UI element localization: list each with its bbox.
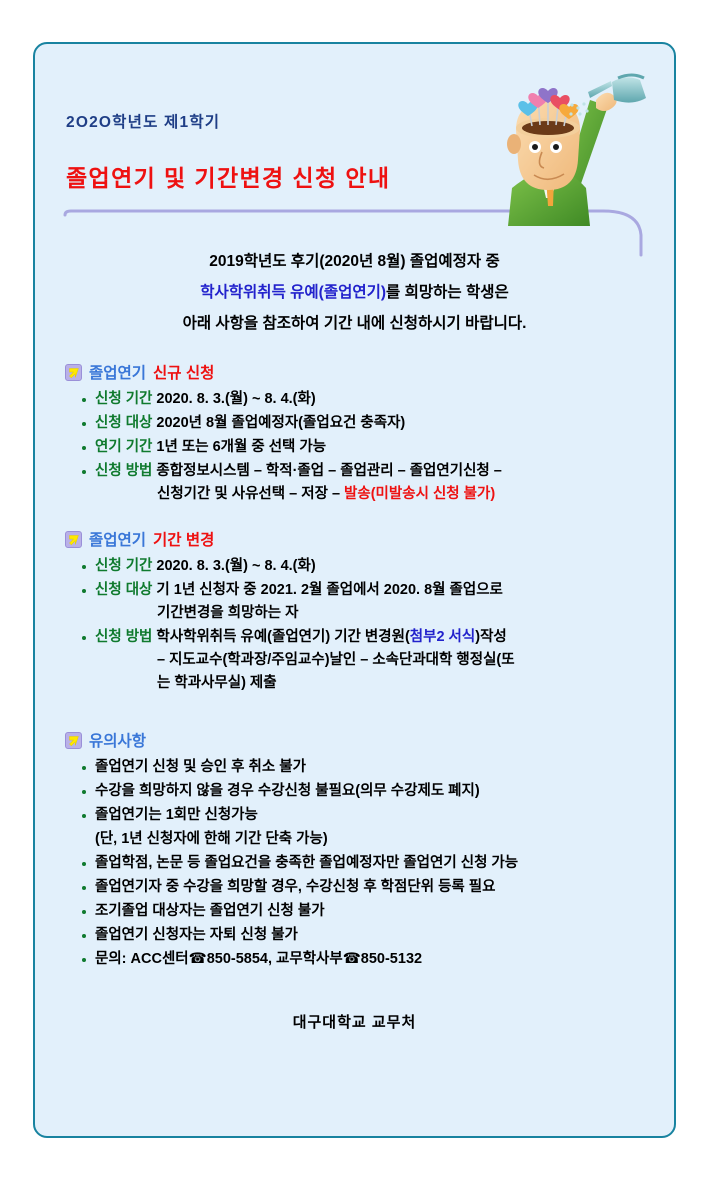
section-heading-main: 졸업연기 <box>89 528 146 550</box>
intro-line-2-rest: 를 희망하는 학생은 <box>386 284 509 301</box>
list-item: 신청 대상 기 1년 신청자 중 2021. 2월 졸업에서 2020. 8월 … <box>79 579 674 625</box>
list-item: 조기졸업 대상자는 졸업연기 신청 불가 <box>79 900 674 923</box>
list-item: 신청 기간 2020. 8. 3.(월) ~ 8. 4.(화) <box>79 555 674 578</box>
section-period-change: 졸업연기 기간 변경 신청 기간 2020. 8. 3.(월) ~ 8. 4.(… <box>35 528 674 695</box>
item-value-continued: 신청기간 및 사유선택 – 저장 – 발송(미발송시 신청 불가) <box>95 483 674 506</box>
arrow-down-right-icon <box>65 732 82 749</box>
item-label: 연기 기간 <box>95 439 152 455</box>
semester-label: 2O2O학년도 제1학기 <box>66 110 220 132</box>
list-item: 신청 대상 2020년 8월 졸업예정자(졸업요건 충족자) <box>79 412 674 435</box>
item-value: 기 1년 신청자 중 2021. 2월 졸업에서 2020. 8월 졸업으로 <box>156 582 502 598</box>
item-value-continued: 기간변경을 희망하는 자 <box>95 602 674 625</box>
section-new-application: 졸업연기 신규 신청 신청 기간 2020. 8. 3.(월) ~ 8. 4.(… <box>35 361 674 506</box>
item-value-pre: 학사학위취득 유예(졸업연기) 기간 변경원( <box>156 629 409 645</box>
intro-highlight: 학사학위취득 유예(졸업연기) <box>200 284 386 301</box>
section-notices: 유의사항 졸업연기 신청 및 승인 후 취소 불가 수강을 희망하지 않을 경우… <box>35 729 674 971</box>
section-item-list: 신청 기간 2020. 8. 3.(월) ~ 8. 4.(화) 신청 대상 기 … <box>65 555 674 695</box>
arrow-down-right-icon <box>65 364 82 381</box>
item-value-warning: 발송(미발송시 신청 불가) <box>344 486 495 502</box>
list-item: 졸업학점, 논문 등 졸업요건을 충족한 졸업예정자만 졸업연기 신청 가능 <box>79 852 674 875</box>
item-value: 2020. 8. 3.(월) ~ 8. 4.(화) <box>156 558 315 574</box>
arrow-down-right-icon <box>65 531 82 548</box>
contact-item: 문의: ACC센터☎850-5854, 교무학사부☎850-5132 <box>79 948 674 971</box>
section-heading-sub: 기간 변경 <box>153 528 214 550</box>
item-value: 2020. 8. 3.(월) ~ 8. 4.(화) <box>156 391 315 407</box>
issuing-organization: 대구대학교 교무처 <box>35 1011 674 1032</box>
list-item: 수강을 희망하지 않을 경우 수강신청 불필요(의무 수강제도 폐지) <box>79 780 674 803</box>
item-label: 신청 대상 <box>95 582 152 598</box>
item-value-continued-2: 는 학과사무실) 제출 <box>95 672 674 695</box>
item-value-continued-text: 신청기간 및 사유선택 – 저장 – <box>157 486 344 502</box>
page-title: 졸업연기 및 기간변경 신청 안내 <box>66 159 390 193</box>
item-label: 신청 방법 <box>95 463 152 479</box>
item-value-continued: – 지도교수(학과장/주임교수)날인 – 소속단과대학 행정실(또 <box>95 649 674 672</box>
announcement-poster: 2O2O학년도 제1학기 졸업연기 및 기간변경 신청 안내 <box>33 42 676 1138</box>
notice-list: 졸업연기 신청 및 승인 후 취소 불가 수강을 희망하지 않을 경우 수강신청… <box>65 756 674 971</box>
item-label: 신청 대상 <box>95 415 152 431</box>
section-heading: 유의사항 <box>65 729 674 751</box>
section-heading-main: 졸업연기 <box>89 361 146 383</box>
section-heading: 졸업연기 신규 신청 <box>65 361 674 383</box>
section-heading-sub: 신규 신청 <box>153 361 214 383</box>
list-item: 졸업연기 신청자는 자퇴 신청 불가 <box>79 924 674 947</box>
item-label: 신청 기간 <box>95 391 152 407</box>
list-item: 신청 기간 2020. 8. 3.(월) ~ 8. 4.(화) <box>79 388 674 411</box>
item-label: 신청 기간 <box>95 558 152 574</box>
list-item: 졸업연기자 중 수강을 희망할 경우, 수강신청 후 학점단위 등록 필요 <box>79 876 674 899</box>
list-item: 신청 방법 종합정보시스템 – 학적·졸업 – 졸업관리 – 졸업연기신청 – … <box>79 460 674 506</box>
poster-header: 2O2O학년도 제1학기 졸업연기 및 기간변경 신청 안내 <box>35 44 674 222</box>
list-item-note: (단, 1년 신청자에 한해 기간 단축 가능) <box>79 828 674 851</box>
man-watering-hearts-in-head-illustration <box>472 48 662 228</box>
list-item: 졸업연기는 1회만 신청가능 <box>79 804 674 827</box>
list-item: 연기 기간 1년 또는 6개월 중 선택 가능 <box>79 436 674 459</box>
item-value-attachment: 첨부2 서식 <box>410 629 475 645</box>
intro-line-1: 2019학년도 후기(2020년 8월) 졸업예정자 중 <box>35 246 674 277</box>
item-value-post: )작성 <box>475 629 507 645</box>
item-label: 신청 방법 <box>95 629 152 645</box>
intro-block: 2019학년도 후기(2020년 8월) 졸업예정자 중 학사학위취득 유예(졸… <box>35 246 674 339</box>
list-item: 신청 방법 학사학위취득 유예(졸업연기) 기간 변경원(첨부2 서식)작성 –… <box>79 626 674 695</box>
item-value: 종합정보시스템 – 학적·졸업 – 졸업관리 – 졸업연기신청 – <box>156 463 501 479</box>
list-item: 졸업연기 신청 및 승인 후 취소 불가 <box>79 756 674 779</box>
intro-line-3: 아래 사항을 참조하여 기간 내에 신청하시기 바랍니다. <box>35 308 674 339</box>
section-heading-main: 유의사항 <box>89 729 146 751</box>
item-value: 2020년 8월 졸업예정자(졸업요건 충족자) <box>156 415 405 431</box>
item-value: 1년 또는 6개월 중 선택 가능 <box>156 439 326 455</box>
intro-line-2: 학사학위취득 유예(졸업연기)를 희망하는 학생은 <box>35 277 674 308</box>
section-heading: 졸업연기 기간 변경 <box>65 528 674 550</box>
item-value: 학사학위취득 유예(졸업연기) 기간 변경원(첨부2 서식)작성 <box>156 629 506 645</box>
section-item-list: 신청 기간 2020. 8. 3.(월) ~ 8. 4.(화) 신청 대상 20… <box>65 388 674 506</box>
